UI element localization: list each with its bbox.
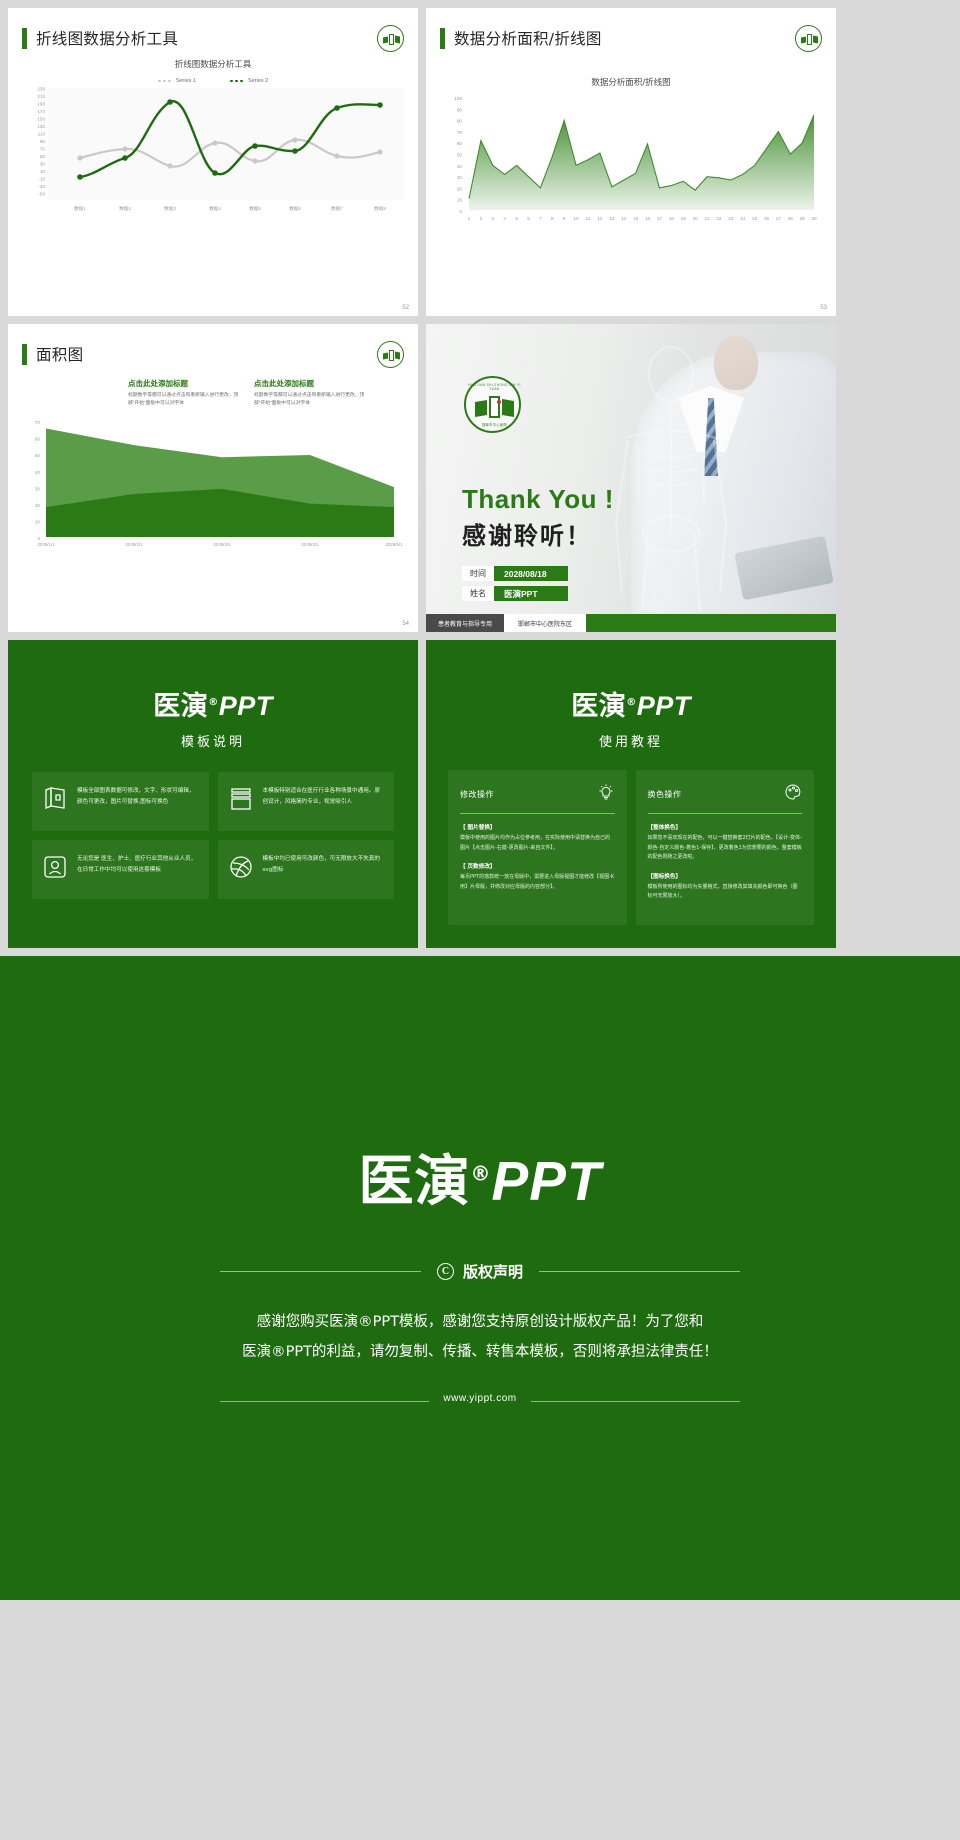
- title-accent-bar: [440, 28, 445, 49]
- brand-subtitle: 使用教程: [426, 731, 836, 750]
- legend-item-series-2: Series 2: [230, 78, 268, 84]
- svg-text:100: 100: [454, 96, 462, 101]
- hospital-logo-icon: [377, 341, 404, 368]
- svg-text:27: 27: [776, 216, 782, 221]
- bulb-icon: [597, 783, 615, 806]
- svg-text:19: 19: [681, 216, 687, 221]
- svg-text:28: 28: [788, 216, 794, 221]
- title-accent-bar: [22, 28, 27, 49]
- svg-text:110: 110: [38, 132, 46, 137]
- svg-text:25: 25: [752, 216, 758, 221]
- svg-text:22: 22: [716, 216, 722, 221]
- note-text: 模板中均已使用可改颜色，可无限放大不失真的svg图标: [263, 854, 385, 885]
- caption-block: 点击此处添加标题 标题数字等都可以通过点击和重新输入进行更改，顶部“开始”面板中…: [128, 378, 246, 408]
- section-body: 如果您不喜欢现在的配色，可以一键替换套2灯片的配色。【设计-变体-颜色-自定义颜…: [648, 834, 803, 863]
- chart-title: 数据分析面积/折线图: [438, 76, 824, 88]
- caption-title: 点击此处添加标题: [254, 378, 372, 389]
- svg-text:-10: -10: [38, 177, 45, 182]
- svg-text:20: 20: [457, 186, 463, 191]
- slide-header: 数据分析面积/折线图: [426, 8, 836, 54]
- note-card[interactable]: 本模板特别适合在医疗行业各种场景中通用。原创设计，风格简约专业，视觉吸引人: [218, 772, 395, 831]
- svg-text:150: 150: [37, 117, 45, 122]
- line-chart-area: 折线图数据分析工具 Series 1 Series 2: [8, 58, 418, 226]
- copyright-symbol-icon: C: [437, 1263, 454, 1280]
- svg-text:230: 230: [37, 87, 45, 92]
- slide-header: 折线图数据分析工具: [8, 8, 418, 54]
- svg-text:2029/4/1: 2029/4/1: [301, 542, 319, 547]
- svg-text:数据4: 数据4: [209, 205, 221, 212]
- svg-text:5: 5: [515, 216, 518, 221]
- svg-text:30: 30: [40, 162, 46, 167]
- brand-cn: 医演: [359, 1149, 471, 1213]
- field-name: 姓名 医演PPT: [462, 586, 568, 601]
- area-line-chart-area: 数据分析面积/折线图 1009080 706050 403020 100: [426, 76, 836, 249]
- brand-registered: ®: [626, 697, 637, 708]
- book-icon: [42, 786, 68, 817]
- user-group-icon: [42, 854, 68, 885]
- website-url[interactable]: www.yippt.com: [429, 1393, 530, 1404]
- svg-text:10: 10: [457, 198, 463, 203]
- stacked-area-chart-svg: 706050 403020 100 2029/1/12029/2/1 2029/…: [12, 412, 410, 552]
- svg-text:2029/5/1: 2029/5/1: [385, 542, 403, 547]
- svg-text:9: 9: [563, 216, 566, 221]
- svg-text:7: 7: [539, 216, 542, 221]
- area-chart-svg: 1009080 706050 403020 100 123 456 789 10…: [438, 94, 824, 244]
- svg-text:-30: -30: [38, 184, 45, 189]
- svg-text:90: 90: [40, 139, 46, 144]
- note-card[interactable]: 模板全部图表数据可修改，文字、形状可编辑，颜色可更改，图片可替换,图标可换色: [32, 772, 209, 831]
- tutorial-card-recolor[interactable]: 换色操作 【整体换色】 如果您不喜欢现在的配色，可以一键替换套2灯片的配色。【设…: [636, 770, 815, 925]
- svg-text:26: 26: [764, 216, 770, 221]
- svg-text:30: 30: [457, 175, 463, 180]
- tutorial-card-header: 换色操作: [648, 783, 803, 806]
- palette-icon: [784, 783, 802, 806]
- svg-text:3: 3: [492, 216, 495, 221]
- brand-block: 医演®PPT 模板说明: [8, 640, 418, 750]
- caption-row: 点击此处添加标题 标题数字等都可以通过点击和重新输入进行更改，顶部“开始”面板中…: [8, 370, 418, 408]
- svg-text:30: 30: [35, 486, 41, 491]
- svg-text:70: 70: [457, 130, 463, 135]
- tutorial-section: 【整体换色】 如果您不喜欢现在的配色，可以一键替换套2灯片的配色。【设计-变体-…: [648, 823, 803, 863]
- badge-bottom-text: 邯郸市中心医院: [466, 422, 523, 427]
- tutorial-card-header: 修改操作: [460, 783, 615, 806]
- svg-text:10: 10: [574, 216, 580, 221]
- slide-template-note[interactable]: 医演®PPT 模板说明 模板全部图表数据可修改，文字、形状可编辑，颜色可更改，图…: [8, 640, 418, 948]
- thank-you-chinese: 感谢聆听！: [462, 516, 592, 551]
- note-card[interactable]: 无论您是 医生、护士、医疗行业其他从业人员，在日常工作中均可以使用这套模板: [32, 840, 209, 899]
- slide-title: 折线图数据分析工具: [36, 27, 178, 49]
- footer-left-text: 患者教育与指导专用: [426, 614, 504, 632]
- slide-footer: 患者教育与指导专用 邯郸市中心医院东区: [426, 614, 836, 632]
- slide-number: 52: [402, 305, 409, 311]
- tutorial-card-edit[interactable]: 修改操作 【 图片替换】 模板中使用的图片均作为占位参考用，在实际使用中请替换为…: [448, 770, 627, 925]
- brand-ppt: PPT: [219, 691, 273, 721]
- caption-body: 标题数字等都可以通过点击和重新输入进行更改，顶部“开始”面板中可以对字体: [128, 392, 246, 408]
- svg-text:40: 40: [35, 470, 41, 475]
- caption-block: 点击此处添加标题 标题数字等都可以通过点击和重新输入进行更改，顶部“开始”面板中…: [254, 378, 372, 408]
- thank-you-english: Thank You !: [462, 484, 614, 515]
- section-body: 模板中使用的图片均作为占位参考用，在实际使用中请替换为自己的图片【点击图片-右键…: [460, 834, 615, 853]
- slide-area-line-chart[interactable]: 数据分析面积/折线图 数据分析面积/折线图 1009080 706050 403…: [426, 8, 836, 316]
- legend-label: Series 1: [176, 78, 196, 84]
- hospital-logo-large-icon: HAN DAN SHI ZHONG XIN YI YUAN 邯郸市中心医院: [464, 376, 521, 433]
- svg-text:0: 0: [459, 209, 462, 214]
- copyright-text: 感谢您购买医演®PPT模板，感谢您支持原创设计版权产品！为了您和 医演®PPT的…: [160, 1308, 800, 1367]
- slide-title: 数据分析面积/折线图: [454, 27, 602, 49]
- title-accent-bar: [22, 344, 27, 365]
- svg-text:2029/3/1: 2029/3/1: [213, 542, 231, 547]
- svg-text:17: 17: [657, 216, 663, 221]
- svg-text:4: 4: [503, 216, 506, 221]
- svg-text:数据5: 数据5: [249, 205, 261, 212]
- box-icon: [228, 786, 254, 817]
- legend-item-series-1: Series 1: [158, 78, 196, 84]
- svg-text:210: 210: [37, 94, 45, 99]
- tutorial-heading: 换色操作: [648, 789, 682, 800]
- tutorial-section: 【 图片替换】 模板中使用的图片均作为占位参考用，在实际使用中请替换为自己的图片…: [460, 823, 615, 853]
- caption-title: 点击此处添加标题: [128, 378, 246, 389]
- note-card[interactable]: 模板中均已使用可改颜色，可无限放大不失真的svg图标: [218, 840, 395, 899]
- svg-text:8: 8: [551, 216, 554, 221]
- tutorial-card-row: 修改操作 【 图片替换】 模板中使用的图片均作为占位参考用，在实际使用中请替换为…: [426, 750, 836, 925]
- note-card-row: 模板全部图表数据可修改，文字、形状可编辑，颜色可更改，图片可替换,图标可换色 本…: [8, 750, 418, 831]
- page-tail: [0, 1584, 960, 1600]
- field-value: 医演PPT: [494, 586, 568, 601]
- svg-text:数据3: 数据3: [164, 205, 176, 212]
- brand-cn: 医演: [571, 691, 626, 722]
- copyright-badge-label: 版权声明: [463, 1261, 523, 1282]
- slide-grid: 折线图数据分析工具 折线图数据分析工具 Series 1 Series: [0, 0, 960, 948]
- brand-mark: 医演®PPT: [426, 684, 836, 723]
- slide-thank-you[interactable]: HAN DAN SHI ZHONG XIN YI YUAN 邯郸市中心医院 Th…: [426, 324, 836, 632]
- svg-text:数据2: 数据2: [119, 205, 131, 212]
- svg-text:数据7: 数据7: [331, 205, 343, 212]
- svg-text:10: 10: [40, 169, 46, 174]
- svg-text:30: 30: [811, 216, 817, 221]
- note-text: 模板全部图表数据可修改，文字、形状可编辑，颜色可更改，图片可替换,图标可换色: [77, 786, 199, 817]
- slide-title: 面积图: [36, 343, 83, 365]
- svg-text:18: 18: [669, 216, 675, 221]
- svg-text:2: 2: [480, 216, 483, 221]
- slide-copyright[interactable]: 医演®PPT C 版权声明 感谢您购买医演®PPT模板，感谢您支持原创设计版权产…: [0, 956, 960, 1584]
- svg-text:20: 20: [693, 216, 699, 221]
- footer-accent: [586, 614, 836, 632]
- svg-text:16: 16: [645, 216, 651, 221]
- svg-text:50: 50: [457, 153, 463, 158]
- legend-swatch-icon: [230, 79, 246, 83]
- copyright-line-1: 感谢您购买医演®PPT模板，感谢您支持原创设计版权产品！为了您和: [160, 1308, 800, 1338]
- field-label: 时间: [462, 566, 494, 581]
- divider: [460, 813, 615, 814]
- svg-text:11: 11: [586, 216, 591, 221]
- divider: [648, 813, 803, 814]
- svg-text:29: 29: [800, 216, 806, 221]
- svg-text:190: 190: [37, 102, 45, 107]
- svg-text:170: 170: [37, 109, 45, 114]
- svg-text:24: 24: [740, 216, 746, 221]
- svg-text:60: 60: [457, 141, 463, 146]
- slide-tutorial[interactable]: 医演®PPT 使用教程 修改操作 【 图片替换】 模板中使用的图: [426, 640, 836, 948]
- svg-text:23: 23: [728, 216, 734, 221]
- note-text: 本模板特别适合在医疗行业各种场景中通用。原创设计，风格简约专业，视觉吸引人: [263, 786, 385, 817]
- svg-text:15: 15: [633, 216, 639, 221]
- slide-line-chart[interactable]: 折线图数据分析工具 折线图数据分析工具 Series 1 Series: [8, 8, 418, 316]
- svg-text:90: 90: [457, 107, 463, 112]
- section-title: 【图标换色】: [648, 872, 803, 880]
- svg-text:12: 12: [597, 216, 603, 221]
- copyright-line-2: 医演®PPT的利益，请勿复制、传播、转售本模板，否则将承担法律责任！: [160, 1338, 800, 1368]
- brand-block: 医演®PPT 使用教程: [426, 640, 836, 750]
- brand-subtitle: 模板说明: [8, 731, 418, 750]
- field-value: 2028/08/18: [494, 566, 568, 581]
- svg-text:14: 14: [621, 216, 627, 221]
- svg-text:1: 1: [468, 216, 471, 221]
- skeleton-overlay-icon: [596, 342, 746, 632]
- line-chart-svg: 230210190 170150130 1109070 503010 -10-3…: [20, 86, 406, 221]
- copyright-badge: C 版权声明: [421, 1261, 539, 1282]
- section-title: 【 页数修改】: [460, 862, 615, 870]
- tutorial-heading: 修改操作: [460, 789, 494, 800]
- hospital-logo-icon: [795, 25, 822, 52]
- slide-header: 面积图: [8, 324, 418, 370]
- field-label: 姓名: [462, 586, 494, 601]
- tutorial-section: 【 页数修改】 每页PPT的落款统一放在母版中，需要进入母版视图才能修改【视图-…: [460, 862, 615, 892]
- caption-body: 标题数字等都可以通过点击和重新输入进行更改，顶部“开始”面板中可以对字体: [254, 392, 372, 408]
- svg-text:-50: -50: [38, 192, 45, 197]
- svg-text:数据8: 数据8: [374, 205, 386, 212]
- note-card-row: 无论您是 医生、护士、医疗行业其他从业人员，在日常工作中均可以使用这套模板 模板…: [8, 831, 418, 899]
- svg-text:2029/1/1: 2029/1/1: [37, 542, 55, 547]
- section-body: 每页PPT的落款统一放在母版中，需要进入母版视图才能修改【视图-K用】片母版，并…: [460, 873, 615, 892]
- badge-top-text: HAN DAN SHI ZHONG XIN YI YUAN: [466, 383, 523, 391]
- section-title: 【 图片替换】: [460, 823, 615, 831]
- svg-text:21: 21: [704, 216, 710, 221]
- svg-text:70: 70: [40, 147, 46, 152]
- brand-cn: 医演: [153, 691, 208, 722]
- svg-text:60: 60: [35, 436, 41, 441]
- chart-title: 折线图数据分析工具: [20, 58, 406, 70]
- svg-text:2029/2/1: 2029/2/1: [125, 542, 143, 547]
- field-time: 时间 2028/08/18: [462, 566, 568, 581]
- legend-label: Series 2: [248, 78, 268, 84]
- footer-right-text: 邯郸市中心医院东区: [504, 614, 586, 632]
- svg-text:80: 80: [457, 119, 463, 124]
- brand-ppt: PPT: [492, 1150, 602, 1212]
- svg-text:20: 20: [35, 503, 41, 508]
- brand-ppt: PPT: [637, 691, 691, 721]
- section-body: 模板所使用的图标均为矢量格式，直接修改其填充颜色即可换色（图标可无限放大）。: [648, 883, 803, 902]
- svg-text:6: 6: [527, 216, 530, 221]
- svg-text:50: 50: [40, 154, 46, 159]
- section-title: 【整体换色】: [648, 823, 803, 831]
- slide-number: 54: [402, 621, 409, 627]
- brand-mark-large: 医演®PPT: [359, 1136, 602, 1216]
- legend-swatch-icon: [158, 79, 174, 83]
- brand-registered: ®: [208, 697, 219, 708]
- tutorial-section: 【图标换色】 模板所使用的图标均为矢量格式，直接修改其填充颜色即可换色（图标可无…: [648, 872, 803, 902]
- svg-text:50: 50: [35, 453, 41, 458]
- svg-text:0: 0: [37, 536, 40, 541]
- svg-text:数据6: 数据6: [289, 205, 301, 212]
- hospital-logo-icon: [377, 25, 404, 52]
- note-text: 无论您是 医生、护士、医疗行业其他从业人员，在日常工作中均可以使用这套模板: [77, 854, 199, 885]
- slide-number: 53: [820, 305, 827, 311]
- svg-text:70: 70: [35, 420, 41, 425]
- svg-text:130: 130: [37, 124, 45, 129]
- dribbble-icon: [228, 854, 254, 885]
- chart-legend: Series 1 Series 2: [20, 78, 406, 84]
- svg-text:40: 40: [457, 164, 463, 169]
- svg-text:10: 10: [35, 519, 41, 524]
- brand-mark: 医演®PPT: [8, 684, 418, 723]
- svg-text:13: 13: [609, 216, 615, 221]
- svg-text:数据1: 数据1: [74, 205, 86, 212]
- slide-area-chart[interactable]: 面积图 点击此处添加标题 标题数字等都可以通过点击和重新输入进行更改，顶部“开始…: [8, 324, 418, 632]
- brand-registered: ®: [471, 1162, 492, 1186]
